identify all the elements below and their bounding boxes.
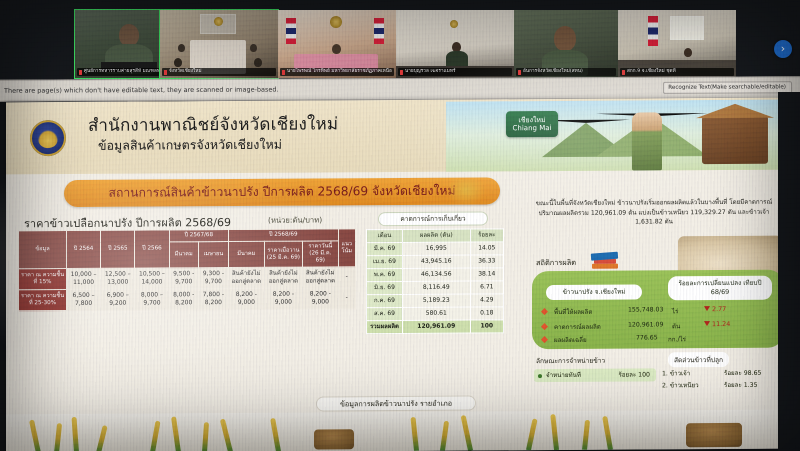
thai-flag-icon: [648, 16, 658, 46]
percent-cell: 4.29: [470, 294, 503, 307]
cell: 8,000 – 9,700: [135, 289, 169, 310]
rice-photo: [136, 413, 256, 451]
stats-row-2-label: คาดการณ์ผลผลิต: [554, 322, 601, 332]
col-header-march-prev: มีนาคม: [169, 242, 198, 268]
rice-grains-photo: [268, 412, 378, 451]
participant-name: จังหวัดเชียงใหม่: [162, 68, 276, 76]
royal-crest-icon: [330, 16, 342, 28]
stats-row-1-unit: ไร่: [672, 306, 678, 316]
speaker: [332, 44, 341, 54]
thai-flag-icon: [286, 18, 296, 44]
price-table: ข้อมูล ปี 2564 ปี 2565 ปี 2566 ปี 2567/6…: [18, 228, 356, 311]
participant-name: สกก.9 จ.เชียงใหม่ ชุดที่: [620, 68, 734, 76]
rice-stalk: [526, 418, 538, 450]
stats-row-2-change: 11.24: [704, 320, 730, 328]
participant-name: อันการจังหวัดเชียงใหม่(สทน): [516, 68, 616, 76]
percent-cell: 14.05: [470, 242, 503, 255]
document-header: สำนักงานพาณิชย์จังหวัดเชียงใหม่ ข้อมูลสิ…: [6, 98, 786, 175]
rice-stalk: [602, 416, 613, 450]
cell: สินค้ายังไม่ออกสู่ตลาด: [264, 267, 302, 288]
stats-row-3-value: 776.65: [636, 334, 658, 341]
rice-photo-strip: [6, 410, 786, 451]
rice-stalk: [150, 421, 160, 451]
ocr-notice-text: There are page(s) which don't have edita…: [0, 86, 279, 95]
wheat-decoration-icon: [446, 179, 486, 205]
slide-main-title: สถานการณ์สินค้าข้าวนาปรัง ปีการผลิต 2568…: [64, 177, 500, 207]
stats-row-3-unit: กก./ไร่: [668, 334, 686, 344]
screen-share-view: ศูนย์การทหารราบค่ายสุรสีห์ มณฑลทหารบกที่…: [0, 0, 800, 451]
col-header-2565: ปี 2565: [101, 230, 135, 268]
table-row: ส.ค. 69 580.61 0.18: [367, 307, 504, 321]
col-header-trend: แนวโน้ม: [338, 229, 355, 267]
cell: 12,500 – 13,000: [101, 268, 135, 289]
ratio-row-2-name: 2. ข้าวเหนียว: [662, 380, 699, 390]
decrease-arrow-icon: [704, 321, 710, 326]
emblem-glyph: [38, 130, 58, 148]
table-row: มี.ค. 69 16,995 14.05: [367, 242, 504, 256]
stats-row-2-value: 120,961.09: [628, 321, 663, 328]
col-header-output: ผลผลิต (ตัน): [403, 229, 471, 242]
chiang-mai-sign: เชียงใหม่ Chiang Mai: [506, 111, 558, 137]
price-unit-note: (หน่วย:ตัน/บาท): [268, 214, 322, 226]
total-label: รวมผลผลิต: [367, 320, 403, 333]
selling-key: จำหน่ายทันที: [546, 369, 581, 382]
summary-paragraph: ขณะนี้ในพื้นที่จังหวัดเชียงใหม่ ข้าวนาปร…: [526, 198, 782, 228]
month-cell: มี.ค. 69: [367, 242, 403, 255]
group-header-2567-68: ปี 2567/68: [169, 230, 228, 242]
attendee: [178, 44, 185, 52]
rice-photo: [16, 414, 126, 451]
attendee: [250, 44, 257, 52]
col-header-percent: ร้อยละ: [470, 229, 503, 242]
attendee: [174, 58, 182, 67]
output-cell: 43,945.16: [403, 255, 471, 268]
participant-tile-6[interactable]: สกก.9 จ.เชียงใหม่ ชุดที่: [618, 10, 736, 78]
total-percent: 100: [470, 320, 503, 333]
rice-stalk: [29, 419, 41, 451]
production-statistics-box: ข้าวนาปรัง จ.เชียงใหม่ ร้อยละการเปลี่ยนแ…: [532, 270, 784, 350]
portrait-frame: [670, 16, 704, 40]
organization-subtitle: ข้อมูลสินค้าเกษตรจังหวัดเชียงใหม่: [98, 135, 282, 156]
cell: -: [338, 288, 355, 309]
col-header-today: ราคาวันนี้ (26 มี.ค. 69): [303, 241, 338, 267]
rice-grain-pile: [686, 423, 742, 447]
output-cell: 16,995: [403, 242, 471, 255]
cell: 9,300 - 9,700: [198, 268, 228, 289]
col-header-april-prev: เมษายน: [198, 242, 228, 268]
col-header-march-cur: มีนาคม: [228, 241, 264, 267]
recognize-text-button[interactable]: Recognize Text(Make searchable/editable): [663, 81, 792, 94]
rice-stalk: [270, 418, 281, 451]
table-row: มิ.ย. 69 8,116.49 6.71: [367, 281, 504, 295]
rice-stalk: [71, 417, 78, 451]
cell: 7,800 - 8,200: [198, 289, 228, 310]
forecast-title-pill: คาดการณ์การเก็บเกี่ยว: [378, 211, 488, 226]
output-cell: 580.61: [403, 307, 471, 320]
row-label-moisture-15: ราคา ณ ความชื้น ที่ 15%: [19, 269, 67, 290]
ratio-row-1-name: 1. ข้าวเจ้า: [662, 368, 690, 378]
total-output: 120,961.09: [403, 320, 471, 333]
selling-section-label: ลักษณะการจำหน่ายข้าว: [536, 355, 605, 366]
month-cell: พ.ค. 69: [367, 268, 403, 281]
output-cell: 8,116.49: [403, 281, 471, 294]
attendee-torso: [446, 51, 468, 67]
statistics-section-label: สถิติการผลิต: [536, 257, 576, 269]
ratio-row-1: 1. ข้าวเจ้า ร้อยละ 98.65: [662, 368, 782, 380]
stats-right-pill: ร้อยละการเปลี่ยนแปลง เทียบปี 68/69: [668, 276, 772, 301]
rice-stalk: [550, 414, 559, 450]
cell: 9,500 - 9,700: [169, 268, 198, 289]
rice-stalk: [96, 425, 108, 451]
cell: 10,000 – 11,000: [67, 268, 101, 289]
rice-stalk: [54, 423, 62, 451]
ratio-section-label: สัดส่วนข้าวที่ปลูก: [668, 352, 729, 367]
ratio-row-2: 2. ข้าวเหนียว ร้อยละ 1.35: [662, 380, 782, 392]
person-head: [119, 24, 139, 46]
person-head: [554, 26, 576, 51]
books-icon: [590, 251, 620, 271]
rice-stalk: [202, 422, 209, 451]
cell: 10,500 – 14,000: [135, 268, 169, 289]
cell: 6,500 – 7,800: [67, 289, 101, 310]
temple-illustration: [702, 116, 768, 164]
bullet-dot-icon: [538, 374, 542, 378]
stats-row-1-change: 2.77: [704, 305, 726, 313]
table-row: เม.ย. 69 43,945.16 36.33: [367, 255, 504, 269]
table-row: พ.ค. 69 46,134.56 38.14: [367, 268, 504, 282]
bullet-diamond-icon: [541, 323, 548, 330]
percent-cell: 38.14: [470, 268, 503, 281]
rice-stalk: [410, 417, 419, 451]
cell: 8,200 - 9,000: [228, 288, 264, 309]
cell: 8,200 - 9,000: [264, 288, 302, 309]
cell: -: [338, 267, 355, 288]
recognize-text-label: Recognize Text(Make searchable/editable): [668, 84, 786, 91]
stats-row-1-label: พื้นที่ให้ผลผลิต: [554, 307, 592, 317]
month-cell: เม.ย. 69: [367, 255, 403, 268]
col-header-month: เดือน: [367, 229, 403, 242]
output-cell: 46,134.56: [403, 268, 471, 281]
royal-crest-icon: [214, 17, 223, 26]
participant-tile-3[interactable]: นายไพรพณ์ ไกรทิพย์ มหาวิทยาลัยราชภัฏภาคเ…: [278, 10, 396, 78]
bullet-diamond-icon: [541, 308, 548, 315]
month-cell: ส.ค. 69: [367, 307, 403, 320]
farmer-illustration: [632, 112, 662, 170]
col-header-2566: ปี 2566: [135, 230, 169, 268]
header-banner-illustration: เชียงใหม่ Chiang Mai: [446, 100, 784, 172]
district-data-pill: ข้อมูลการผลิตข้าวนาปรัง รายอำเภอ: [316, 396, 476, 412]
attendee: [254, 58, 262, 67]
percent-cell: 36.33: [470, 255, 503, 268]
stats-row-1-value: 155,748.03: [628, 306, 663, 313]
rice-grains-photo: [656, 410, 776, 450]
stats-row-3-label: ผลผลิตเฉลี่ย: [554, 335, 587, 345]
rice-grain-pile: [314, 429, 354, 449]
harvest-forecast-table: เดือน ผลผลิต (ตัน) ร้อยละ มี.ค. 69 16,99…: [366, 228, 504, 334]
stats-left-pill: ข้าวนาปรัง จ.เชียงใหม่: [546, 284, 642, 300]
month-cell: มิ.ย. 69: [367, 281, 403, 294]
rice-stalk: [220, 418, 233, 451]
bullet-diamond-icon: [541, 336, 548, 343]
cell: 8,000 - 8,200: [169, 289, 198, 310]
stats-row-2-unit: ตัน: [672, 321, 680, 331]
selling-row: จำหน่ายทันที ร้อยละ 100: [534, 368, 656, 382]
row-label-moisture-25-30: ราคา ณ ความชื้น ที่ 25-30%: [19, 290, 67, 311]
attendee: [684, 48, 692, 57]
group-header-2568-69: ปี 2568/69: [228, 229, 338, 242]
participant-tile-4[interactable]: นายบุญรวล เฆจราแมทร์: [396, 10, 514, 78]
ministry-emblem-icon: [20, 110, 76, 166]
next-page-arrow-icon[interactable]: ›: [774, 40, 792, 58]
ratio-row-2-percent: ร้อยละ 1.35: [724, 380, 758, 390]
forecast-header-row: เดือน ผลผลิต (ตัน) ร้อยละ: [367, 229, 504, 243]
emblem-inner: [30, 120, 66, 156]
thai-flag-icon: [374, 18, 384, 44]
col-header-data: ข้อมูล: [19, 231, 67, 269]
rice-stalk: [171, 416, 181, 451]
percent-cell: 0.18: [470, 307, 503, 320]
rice-stalk: [582, 420, 590, 450]
ratio-row-1-percent: ร้อยละ 98.65: [724, 368, 761, 378]
rice-photo: [516, 411, 636, 451]
rice-photo: [396, 411, 506, 451]
temple-roof: [696, 104, 774, 118]
table-row: ก.ค. 69 5,189.23 4.29: [367, 294, 504, 308]
cell: 8,200 - 9,000: [303, 288, 338, 309]
participant-name: นายไพรพณ์ ไกรทิพย์ มหาวิทยาลัยราชภัฏภาคเ…: [280, 68, 394, 76]
col-header-2564: ปี 2564: [67, 230, 101, 268]
rice-stalk: [461, 415, 473, 451]
decrease-arrow-icon: [704, 306, 710, 311]
shared-document-page: สำนักงานพาณิชย์จังหวัดเชียงใหม่ ข้อมูลสิ…: [6, 98, 786, 451]
participant-name: นายบุญรวล เฆจราแมทร์: [398, 68, 512, 76]
cell: สินค้ายังไม่ออกสู่ตลาด: [228, 267, 264, 288]
royal-crest-icon: [450, 20, 458, 28]
cell: 6,900 – 9,200: [101, 289, 135, 310]
percent-cell: 6.71: [470, 281, 503, 294]
screen-edge-letterbox: [778, 92, 800, 451]
cell: สินค้ายังไม่ออกสู่ตลาด: [303, 267, 338, 288]
participant-tile-5[interactable]: อันการจังหวัดเชียงใหม่(สทน): [514, 10, 618, 78]
table-row: ราคา ณ ความชื้น ที่ 25-30% 6,500 – 7,800…: [19, 288, 356, 311]
participant-tile-2[interactable]: จังหวัดเชียงใหม่: [160, 10, 278, 78]
rice-stalk: [440, 421, 449, 451]
selling-value: ร้อยละ 100: [618, 368, 650, 381]
month-cell: ก.ค. 69: [367, 294, 403, 307]
col-header-yesterday: ราคาเมื่อวาน (25 มี.ค. 69): [264, 241, 302, 267]
table-row: ราคา ณ ความชื้น ที่ 15% 10,000 – 11,000 …: [19, 267, 356, 290]
table-row-total: รวมผลผลิต 120,961.09 100: [367, 320, 504, 334]
output-cell: 5,189.23: [403, 294, 471, 307]
